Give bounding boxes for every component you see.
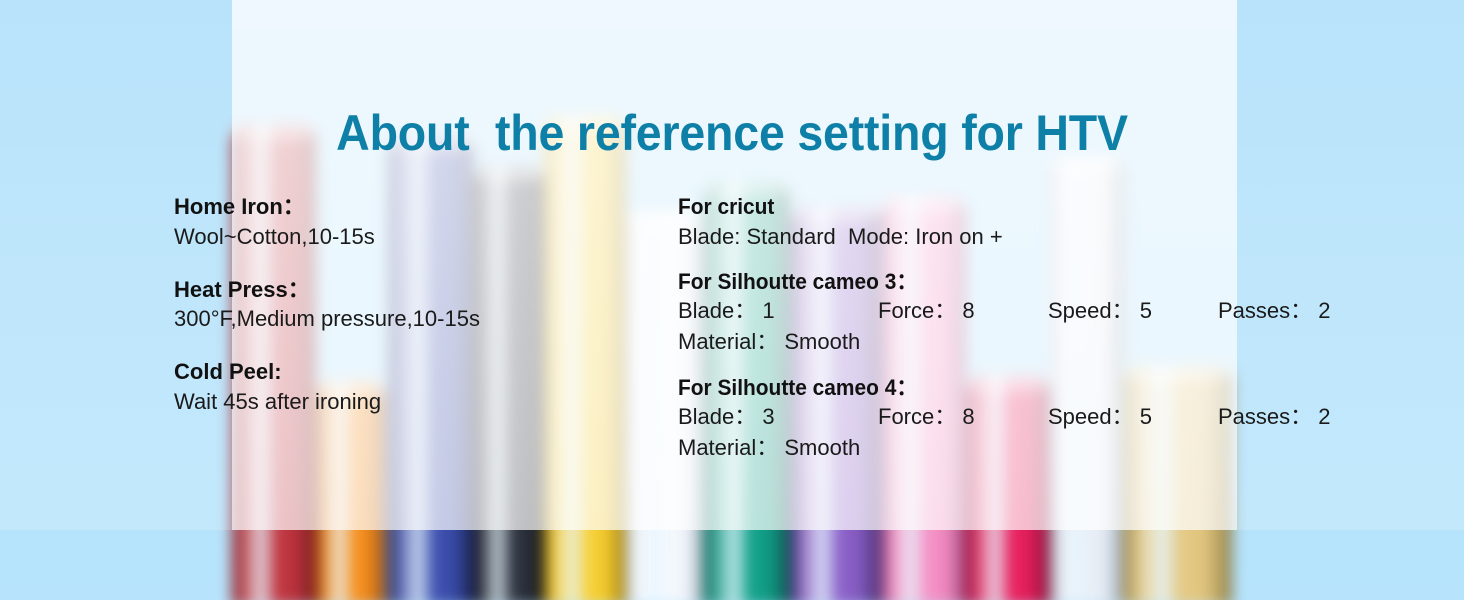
right-block-1: For Silhoutte cameo 3：Blade： 1Force： 8Sp… [678, 268, 1418, 358]
right-block-0: For cricutBlade: Standard Mode: Iron on … [678, 193, 1418, 252]
right-heading-1: For Silhoutte cameo 3： [678, 268, 1381, 296]
left-heading-1: Heat Press： [174, 276, 644, 304]
right-spec-cell-1-1-0: Material： Smooth [678, 326, 860, 357]
left-block-1: Heat Press：300°F,Medium pressure,10-15s [174, 276, 644, 335]
banner-content: About the reference setting for HTV Home… [0, 0, 1464, 600]
right-spec-cell-2-0-3: Passes： 2 [1218, 401, 1388, 432]
right-spec-row-1-1: Material： Smooth [678, 326, 1418, 357]
right-spec-cell-1-0-2: Speed： 5 [1048, 295, 1218, 326]
right-spec-cell-2-0-1: Force： 8 [878, 401, 1048, 432]
left-line-0-0: Wool~Cotton,10-15s [174, 221, 644, 252]
right-spec-cell-2-1-0: Material： Smooth [678, 432, 860, 463]
right-heading-2: For Silhoutte cameo 4： [678, 374, 1381, 402]
right-spec-row-1-0: Blade： 1Force： 8Speed： 5Passes： 2 [678, 295, 1418, 326]
right-spec-cell-2-0-2: Speed： 5 [1048, 401, 1218, 432]
right-spec-row-2-0: Blade： 3Force： 8Speed： 5Passes： 2 [678, 401, 1418, 432]
right-spec-row-2-1: Material： Smooth [678, 432, 1418, 463]
left-column: Home Iron：Wool~Cotton,10-15sHeat Press：3… [174, 193, 644, 441]
right-column: For cricutBlade: Standard Mode: Iron on … [678, 193, 1418, 480]
right-heading-0: For cricut [678, 193, 1381, 221]
right-spec-cell-1-0-0: Blade： 1 [678, 295, 878, 326]
right-line-0-0: Blade: Standard Mode: Iron on + [678, 221, 1418, 252]
banner-graphic: About the reference setting for HTV Home… [0, 0, 1464, 600]
right-spec-cell-1-0-1: Force： 8 [878, 295, 1048, 326]
left-block-2: Cold Peel:Wait 45s after ironing [174, 358, 644, 417]
left-line-2-0: Wait 45s after ironing [174, 386, 644, 417]
page-title: About the reference setting for HTV [51, 104, 1413, 162]
left-heading-2: Cold Peel: [174, 358, 644, 386]
right-block-2: For Silhoutte cameo 4：Blade： 3Force： 8Sp… [678, 374, 1418, 464]
right-spec-cell-1-0-3: Passes： 2 [1218, 295, 1388, 326]
left-line-1-0: 300°F,Medium pressure,10-15s [174, 303, 644, 334]
right-spec-cell-2-0-0: Blade： 3 [678, 401, 878, 432]
left-heading-0: Home Iron： [174, 193, 644, 221]
left-block-0: Home Iron：Wool~Cotton,10-15s [174, 193, 644, 252]
